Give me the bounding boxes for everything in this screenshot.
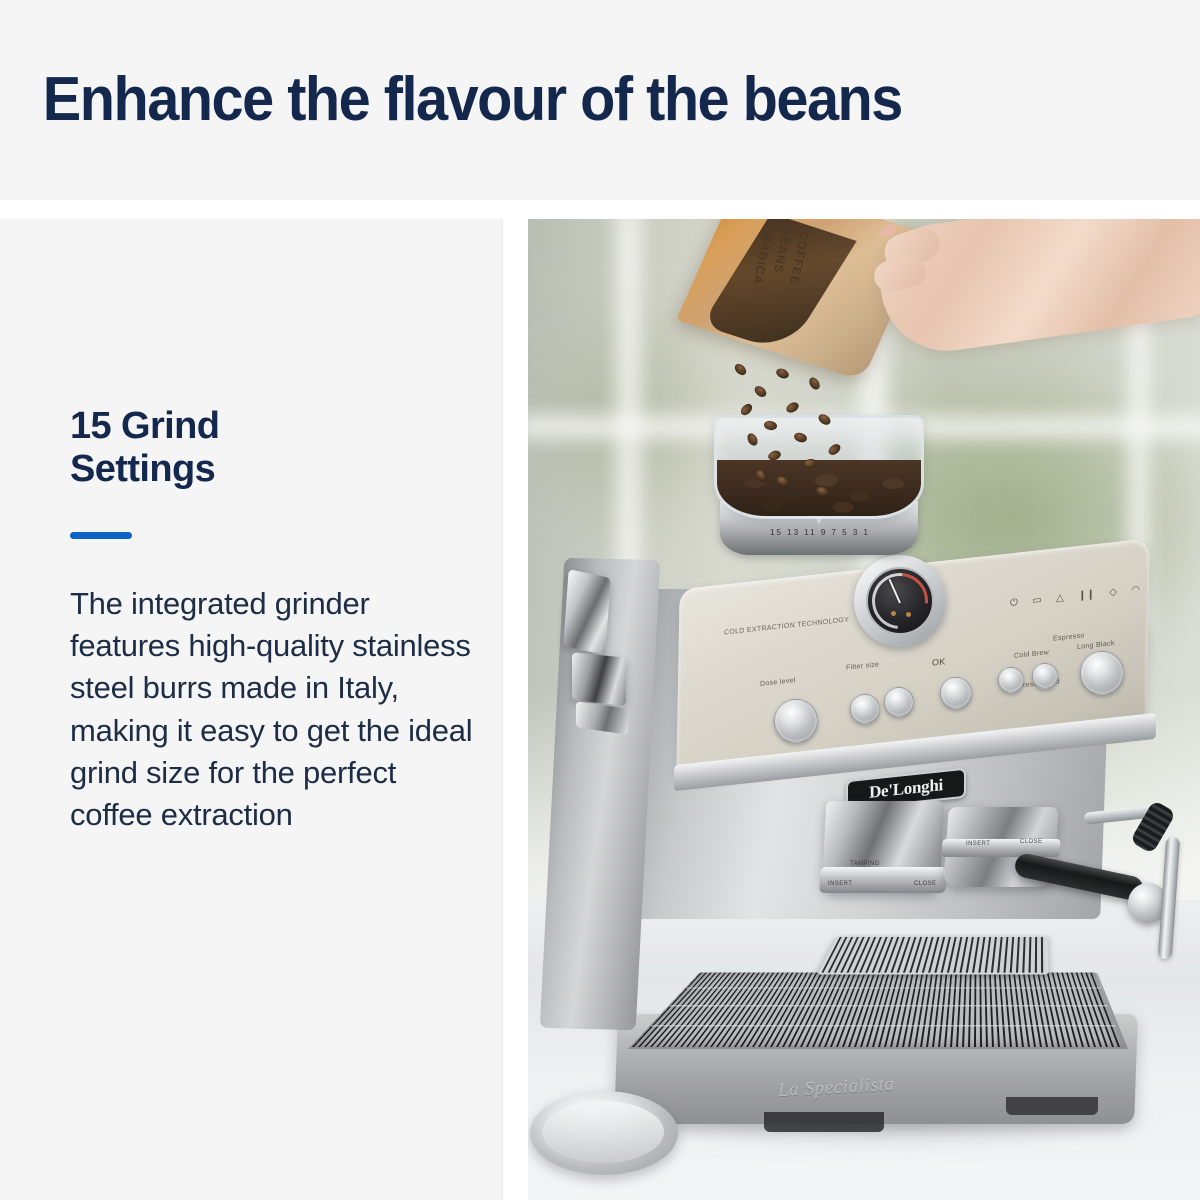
accent-rule <box>70 532 132 539</box>
glass-bean-hopper <box>714 415 924 519</box>
cup-icon: ▭ <box>1032 594 1041 609</box>
temperature-button[interactable] <box>998 667 1024 693</box>
ok-label: OK <box>932 656 946 667</box>
steam-icon: ◠ <box>1131 584 1140 599</box>
cup-rest-plate[interactable] <box>817 935 1048 974</box>
feature-subtitle: 15 Grind Settings <box>70 405 480 490</box>
feature-body-text: The integrated grinder features high-qua… <box>70 583 480 836</box>
gauge-indicator-light-2 <box>906 612 911 617</box>
copy-block: 15 Grind Settings The integrated grinder… <box>70 405 480 836</box>
group-head-collar <box>941 839 1060 857</box>
drip-tray-grate-crossbars <box>632 972 1124 1047</box>
page-title: Enhance the flavour of the beans <box>0 69 902 131</box>
descale-icon: △ <box>1056 592 1064 607</box>
feature-copy-panel: 15 Grind Settings The integrated grinder… <box>0 219 503 1200</box>
base-foot-right <box>1006 1097 1098 1115</box>
badge-wordmark: De'Longhi <box>869 775 943 803</box>
foreground-saucer-rim <box>542 1101 664 1163</box>
tamping-chamber-collar <box>819 867 946 893</box>
group-head-close-label: CLOSE <box>1020 839 1042 845</box>
pause-icon: ❙❙ <box>1078 589 1095 605</box>
page-header: Enhance the flavour of the beans <box>0 0 1200 200</box>
gauge-indicator-light-1 <box>891 611 896 616</box>
double-shot-button[interactable] <box>884 687 914 717</box>
tamping-lever-handle[interactable] <box>563 569 610 655</box>
steam-wand-tube[interactable] <box>1158 837 1180 960</box>
header-divider <box>0 200 1200 219</box>
power-icon: ⏻ <box>1010 597 1018 612</box>
ok-button[interactable] <box>940 677 972 709</box>
tamping-insert-label: INSERT <box>828 881 852 887</box>
water-drop-icon: ◇ <box>1109 587 1117 602</box>
tamping-close-label: CLOSE <box>914 881 936 887</box>
tamping-label: TAMPING <box>850 861 880 867</box>
single-shot-button[interactable] <box>850 694 880 724</box>
dose-level-knob[interactable] <box>774 699 818 743</box>
promo-page: Enhance the flavour of the beans 15 Grin… <box>0 0 1200 1200</box>
beverage-selector-knob[interactable] <box>1080 651 1124 695</box>
tamping-lever-body[interactable] <box>572 652 626 706</box>
cup-size-button[interactable] <box>1032 663 1058 689</box>
product-photo: La Specialista COLD EXTRACTION TECHNOLOG… <box>528 219 1200 1200</box>
base-foot-front <box>764 1112 884 1132</box>
group-head-insert-label: INSERT <box>966 841 990 847</box>
